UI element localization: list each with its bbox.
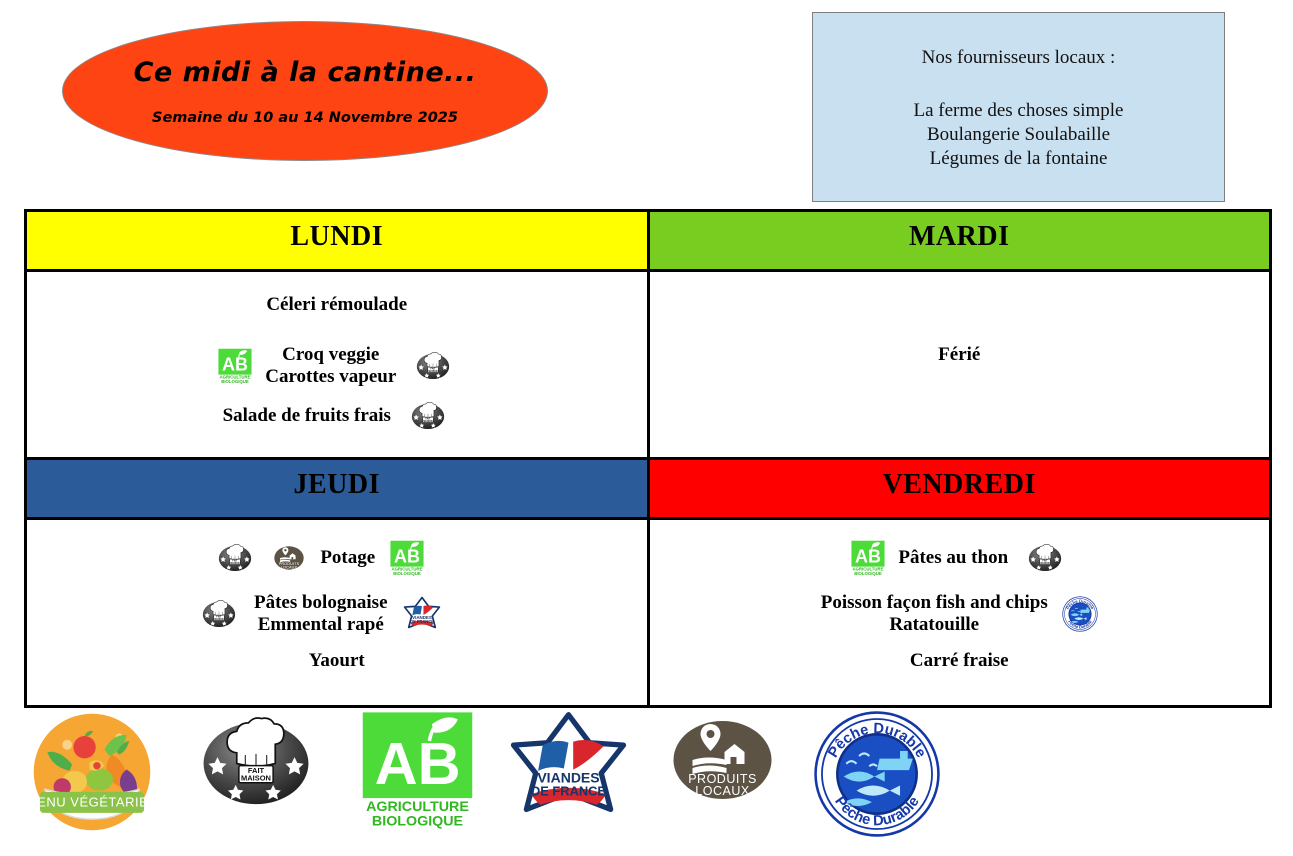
table-row-headers-2: JEUDI VENDREDI [26, 459, 1271, 519]
svg-text:DE FRANCE: DE FRANCE [531, 783, 606, 798]
fait-maison-logo: FAIT MAISON [1022, 542, 1068, 575]
menu-course: Yaourt [27, 650, 647, 672]
fait-maison-logo: FAIT MAISON [182, 710, 330, 817]
course-label: Salade de fruits frais [223, 405, 391, 427]
svg-text:AB: AB [222, 355, 248, 375]
course-label: Potage [320, 547, 375, 569]
fait-maison-logo: FAIT MAISON [405, 400, 451, 433]
course-label: Croq veggieCarottes vapeur [265, 344, 396, 389]
ab-logo: AB AGRICULTURE BIOLOGIQUE [217, 348, 253, 384]
svg-text:MAISON: MAISON [241, 774, 271, 783]
fait-maison-logo: FAIT MAISON [196, 598, 242, 631]
course-label: Pâtes bolognaiseEmmental rapé [254, 592, 388, 637]
course-label: Carré fraise [910, 650, 1009, 672]
day-header-lundi: LUNDI [26, 211, 649, 271]
table-row-headers-1: LUNDI MARDI [26, 211, 1271, 271]
course-label: Poisson façon fish and chipsRatatouille [821, 592, 1048, 637]
produits-locaux-logo: PRODUITS LOCAUX [660, 710, 785, 810]
peche-durable-logo: Pêche Durable Pêche Durable [1062, 596, 1098, 632]
legend-item: AB AGRICULTURE BIOLOGIQUE [358, 710, 477, 829]
ab-logo: AB AGRICULTURE BIOLOGIQUE [850, 540, 886, 576]
day-header-vendredi: VENDREDI [648, 459, 1271, 519]
course-label: Férié [938, 344, 980, 366]
menu-course: AB AGRICULTURE BIOLOGIQUEPâtes au thon F… [650, 540, 1270, 576]
svg-text:LOCAUX: LOCAUX [695, 784, 750, 798]
day-header-jeudi: JEUDI [26, 459, 649, 519]
svg-text:AB: AB [375, 730, 461, 797]
menu-course: FAIT MAISON PRODUITS LOCAUXPotage AB AGR… [9, 540, 629, 576]
viandes-de-france-logo: VIANDES DE FRANCE [505, 710, 632, 827]
menu-course: Salade de fruits frais FAIT MAISON [27, 400, 647, 433]
menu-course: Carré fraise [650, 650, 1270, 672]
course-label: Yaourt [309, 650, 365, 672]
ab-logo: AB AGRICULTURE BIOLOGIQUE [358, 710, 477, 829]
svg-text:MENU VÉGÉTARIEN: MENU VÉGÉTARIEN [30, 795, 154, 810]
week-subtitle: Semaine du 10 au 14 Novembre 2025 [152, 110, 458, 126]
legend-item: Pêche Durable Pêche Durable [813, 710, 941, 838]
day-cell-lundi: Céleri rémoulade AB AGRICULTURE BIOLOGIQ… [26, 271, 649, 459]
day-cell-vendredi: AB AGRICULTURE BIOLOGIQUEPâtes au thon F… [648, 519, 1271, 707]
svg-text:AB: AB [855, 546, 881, 566]
legend-item: PRODUITS LOCAUX [660, 710, 785, 810]
peche-durable-logo: Pêche Durable Pêche Durable [813, 710, 941, 838]
legend-item: VIANDES DE FRANCE [505, 710, 632, 827]
fait-maison-logo: FAIT MAISON [410, 350, 456, 383]
day-header-mardi: MARDI [648, 211, 1271, 271]
local-suppliers-box: Nos fournisseurs locaux : La ferme des c… [812, 12, 1225, 202]
legend-item: FAIT MAISON [182, 710, 330, 817]
page-title: Ce midi à la cantine... [134, 57, 477, 88]
header-zone: Ce midi à la cantine... Semaine du 10 au… [0, 0, 1293, 209]
supplier-item: Légumes de la fontaine [930, 147, 1108, 171]
suppliers-heading: Nos fournisseurs locaux : [922, 47, 1116, 69]
menu-course: Poisson façon fish and chipsRatatouille … [650, 592, 1270, 637]
menu-vegetarien-logo: MENU VÉGÉTARIEN [30, 710, 154, 834]
supplier-item: La ferme des choses simple [914, 99, 1124, 123]
menu-course: Céleri rémoulade [27, 294, 647, 316]
day-cell-mardi: Férié [648, 271, 1271, 459]
fait-maison-logo: FAIT MAISON [212, 542, 258, 575]
table-row-body-1: Céleri rémoulade AB AGRICULTURE BIOLOGIQ… [26, 271, 1271, 459]
svg-text:BIOLOGIQUE: BIOLOGIQUE [393, 571, 421, 576]
menu-course: Férié [650, 344, 1270, 366]
svg-text:DE FRANCE: DE FRANCE [410, 619, 434, 624]
svg-text:BIOLOGIQUE: BIOLOGIQUE [372, 813, 463, 829]
svg-text:BIOLOGIQUE: BIOLOGIQUE [221, 379, 249, 384]
svg-text:BIOLOGIQUE: BIOLOGIQUE [855, 571, 883, 576]
menu-course: AB AGRICULTURE BIOLOGIQUECroq veggieCaro… [27, 344, 647, 389]
supplier-item: Boulangerie Soulabaille [927, 123, 1110, 147]
ab-logo: AB AGRICULTURE BIOLOGIQUE [389, 540, 425, 576]
produits-locaux-logo: PRODUITS LOCAUX [270, 543, 308, 573]
title-banner: Ce midi à la cantine... Semaine du 10 au… [62, 21, 548, 161]
menu-course: FAIT MAISON Pâtes bolognaiseEmmental rap… [9, 592, 629, 637]
svg-text:LOCAUX: LOCAUX [281, 566, 298, 570]
viandes-de-france-logo: VIANDES DE FRANCE [402, 596, 442, 633]
course-label: Céleri rémoulade [266, 294, 407, 316]
weekly-menu-table: LUNDI MARDI Céleri rémoulade AB AGRICULT… [24, 209, 1272, 708]
day-cell-jeudi: FAIT MAISON PRODUITS LOCAUXPotage AB AGR… [26, 519, 649, 707]
legend-item: MENU VÉGÉTARIEN [30, 710, 154, 834]
legend-strip: MENU VÉGÉTARIEN FAIT MAISON AB AGRICULTU… [0, 710, 1293, 856]
table-row-body-2: FAIT MAISON PRODUITS LOCAUXPotage AB AGR… [26, 519, 1271, 707]
course-label: Pâtes au thon [898, 547, 1008, 569]
svg-text:AB: AB [394, 546, 420, 566]
